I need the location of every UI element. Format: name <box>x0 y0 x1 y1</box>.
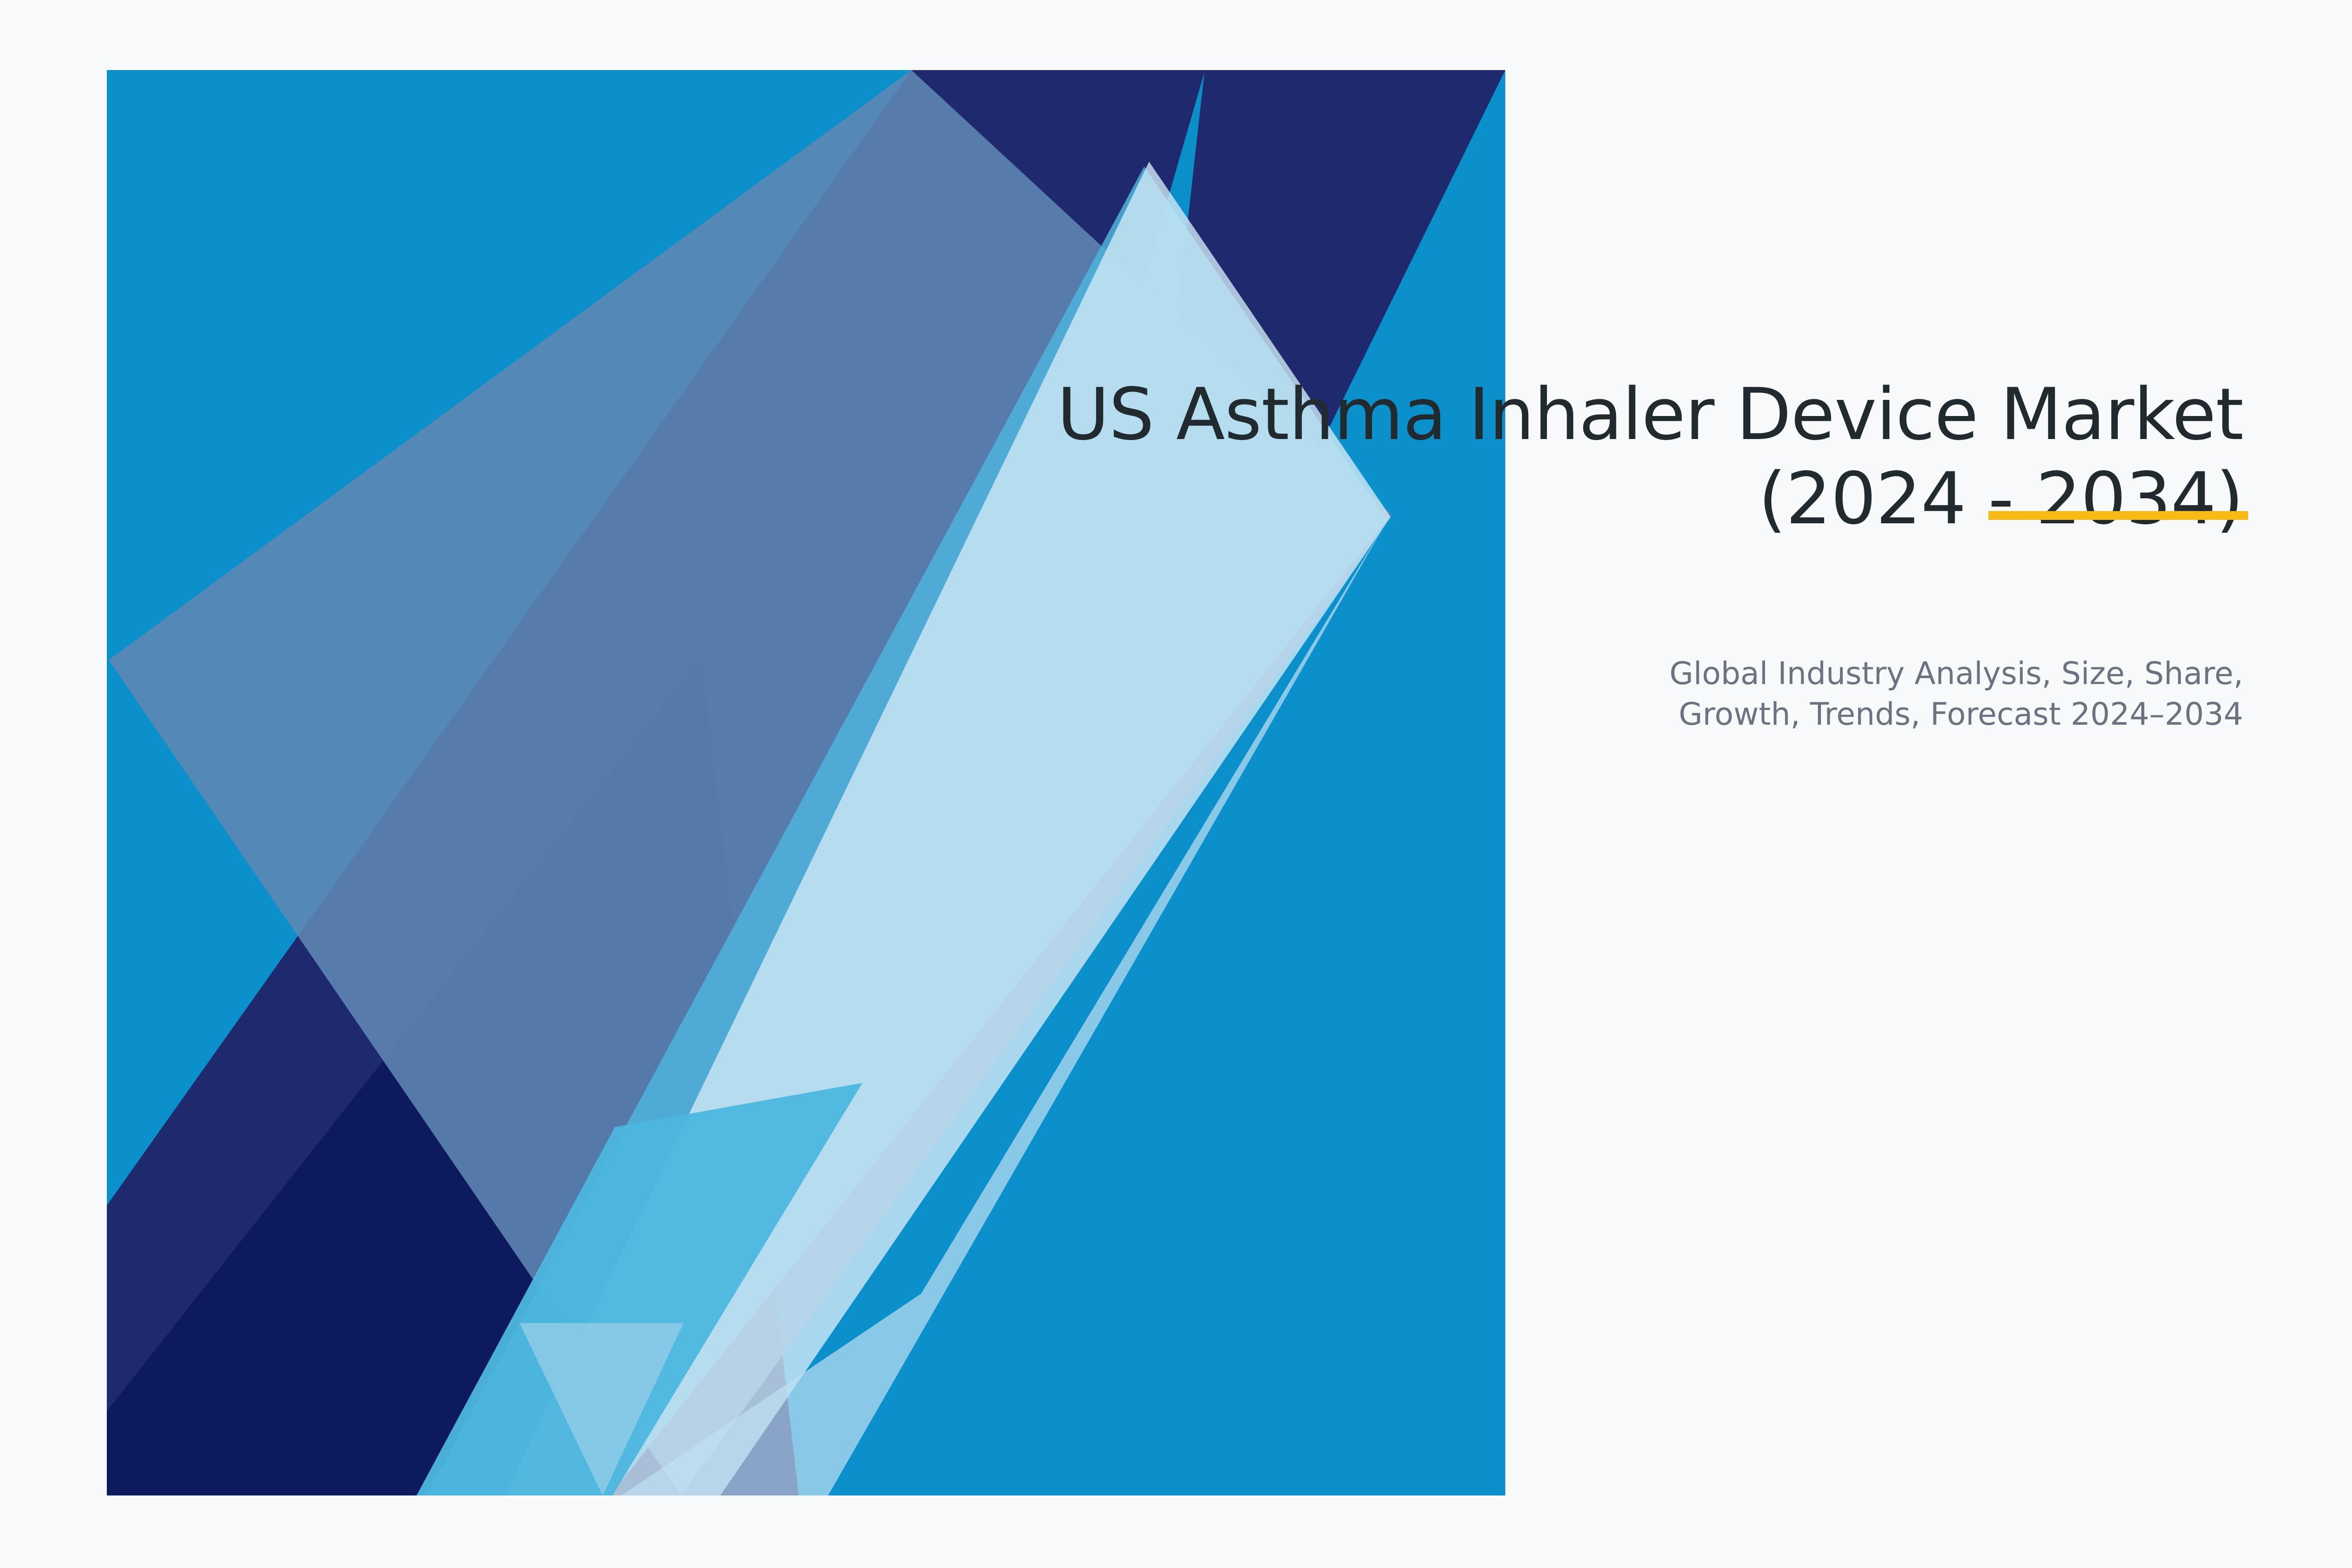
abstract-geometric-artwork <box>0 0 2352 1568</box>
shape-cyan-base <box>107 70 1505 1495</box>
title-block: US Asthma Inhaler Device Market (2024 - … <box>833 372 2243 735</box>
shape-deep-navy-dart <box>107 657 799 1495</box>
report-cover: US Asthma Inhaler Device Market (2024 - … <box>0 0 2352 1568</box>
shape-pale-blue-sheet <box>505 162 1391 1495</box>
title-accent-underline <box>1988 511 2248 520</box>
shape-sky-blue-band <box>426 167 1387 1495</box>
page-subtitle: Global Industry Analysis, Size, Share, G… <box>833 653 2243 735</box>
shape-bottom-v-notch <box>519 1323 684 1495</box>
shape-bottom-sky-accent <box>416 1083 862 1495</box>
shape-navy-wedge <box>107 70 1505 1495</box>
shape-steel-blue-overlay <box>109 70 1392 1495</box>
